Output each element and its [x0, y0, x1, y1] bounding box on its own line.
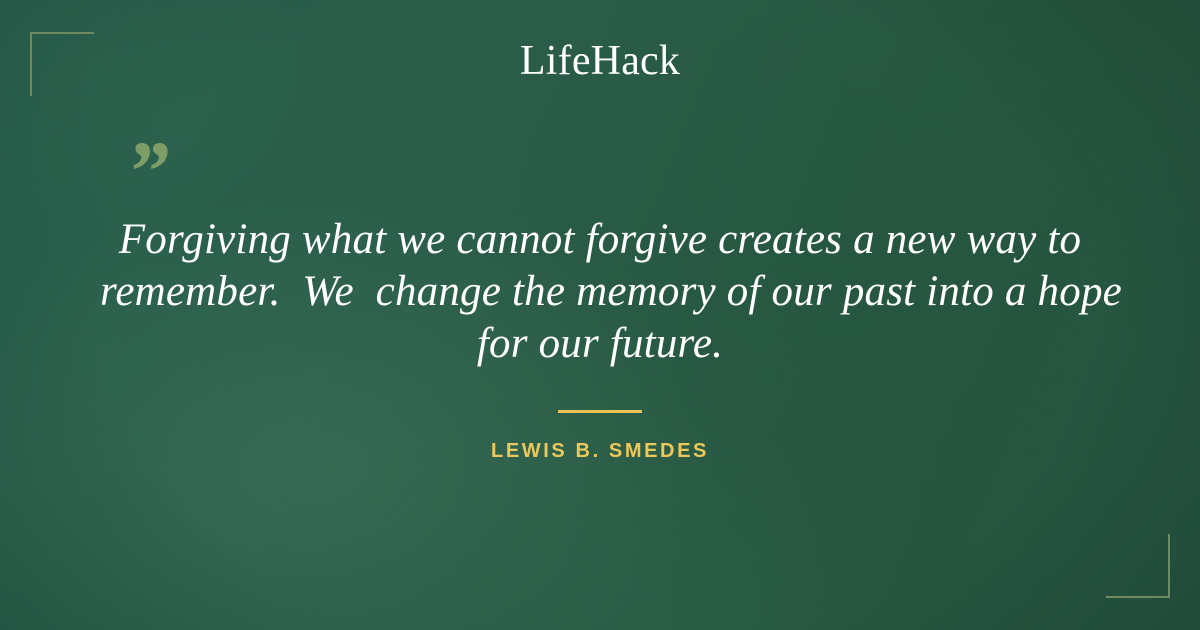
quote-line: remember. We change the memory of our pa… — [100, 266, 1100, 318]
quote-text: Forgiving what we cannot forgive creates… — [100, 214, 1100, 370]
brand-logo: LifeHack — [0, 38, 1200, 84]
quotation-mark-icon: ” — [126, 128, 169, 214]
quote-author: LEWIS B. SMEDES — [0, 438, 1200, 464]
quote-card: LifeHack ” Forgiving what we cannot forg… — [0, 0, 1200, 630]
corner-bracket-bottom-right-icon — [1106, 534, 1170, 598]
attribution-divider — [558, 410, 642, 413]
quote-line: Forgiving what we cannot forgive creates… — [100, 214, 1100, 266]
quote-line: for our future. — [100, 318, 1100, 370]
